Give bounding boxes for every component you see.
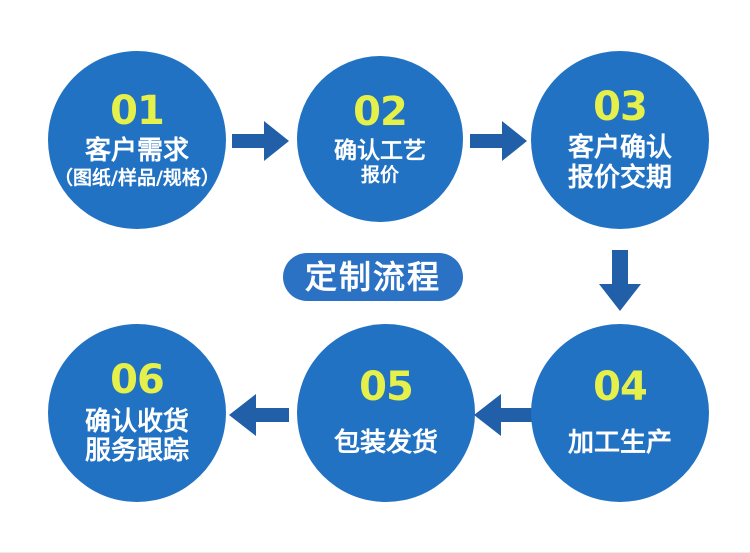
arrow-03-to-04-icon — [596, 250, 644, 312]
step-label-05-line1: 包装发货 — [334, 429, 438, 458]
step-label-02-line1: 确认工艺 — [334, 139, 426, 165]
step-node-02[interactable]: 02 确认工艺 报价 — [297, 56, 463, 222]
step-node-03[interactable]: 03 客户确认 报价交期 — [531, 51, 709, 229]
step-node-05[interactable]: 05 包装发货 — [297, 324, 475, 502]
step-node-01[interactable]: 01 客户需求 （图纸/样品/规格） — [48, 51, 226, 229]
arrow-01-to-02-icon — [232, 118, 290, 164]
step-number-02: 02 — [353, 92, 407, 132]
arrow-02-to-03-icon — [470, 118, 528, 164]
arrow-05-to-06-icon — [228, 391, 290, 439]
flowchart-canvas: 01 客户需求 （图纸/样品/规格） 02 确认工艺 报价 03 客户确认 报价… — [0, 0, 750, 553]
step-label-01-line2: （图纸/样品/规格） — [54, 168, 220, 189]
step-label-06-line2: 服务跟踪 — [85, 437, 189, 466]
step-label-06-line1: 确认收货 — [85, 408, 189, 437]
step-label-03-line1: 客户确认 — [568, 134, 672, 163]
step-node-06[interactable]: 06 确认收货 服务跟踪 — [48, 324, 226, 502]
step-label-02-line2: 报价 — [361, 165, 399, 186]
step-node-04[interactable]: 04 加工生产 — [531, 324, 709, 502]
step-number-03: 03 — [593, 87, 647, 127]
step-label-01-line1: 客户需求 — [85, 137, 189, 166]
center-badge-label: 定制流程 — [305, 261, 441, 293]
step-label-03-line2: 报价交期 — [568, 164, 672, 193]
step-number-04: 04 — [593, 367, 647, 407]
step-number-01: 01 — [110, 91, 164, 131]
step-number-06: 06 — [110, 360, 164, 400]
arrow-04-to-05-icon — [473, 391, 535, 439]
step-label-04-line1: 加工生产 — [568, 429, 672, 458]
center-badge: 定制流程 — [283, 253, 463, 301]
step-number-05: 05 — [359, 367, 413, 407]
